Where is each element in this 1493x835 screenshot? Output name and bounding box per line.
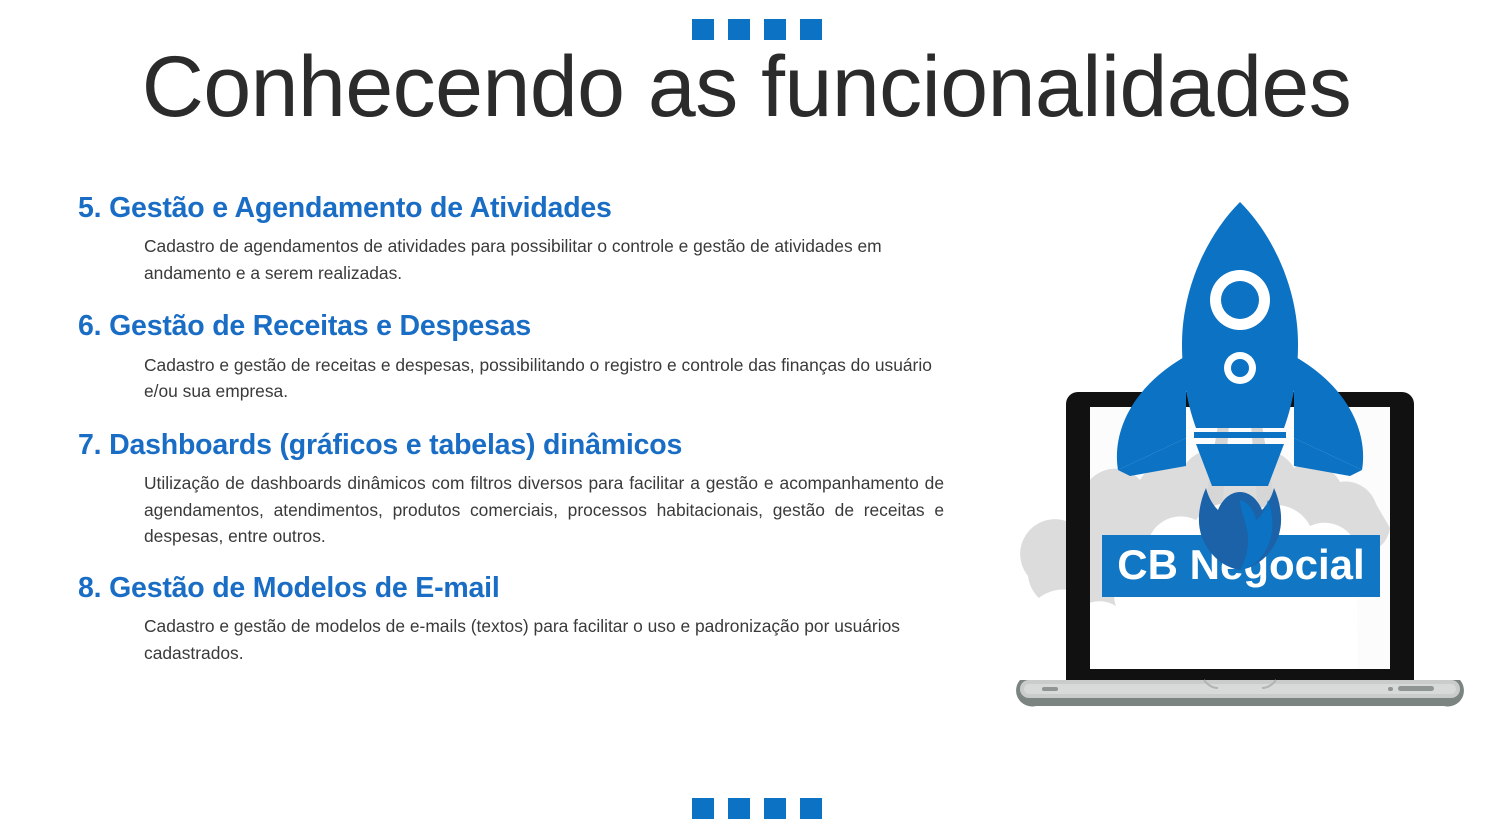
decorative-square — [728, 19, 750, 40]
feature-item-5: 5. Gestão e Agendamento de Atividades Ca… — [78, 190, 958, 286]
feature-heading-6: 6. Gestão de Receitas e Despesas — [78, 308, 958, 344]
feature-body-8: Cadastro e gestão de modelos de e-mails … — [144, 613, 944, 666]
feature-body-5: Cadastro de agendamentos de atividades p… — [144, 233, 944, 286]
feature-item-6: 6. Gestão de Receitas e Despesas Cadastr… — [78, 308, 958, 404]
feature-heading-8: 8. Gestão de Modelos de E-mail — [78, 570, 958, 606]
decorative-square — [800, 19, 822, 40]
top-decorative-squares — [692, 19, 822, 40]
feature-item-8: 8. Gestão de Modelos de E-mail Cadastro … — [78, 570, 958, 666]
decorative-square — [800, 798, 822, 819]
feature-list: 5. Gestão e Agendamento de Atividades Ca… — [78, 190, 958, 666]
presentation-slide: Conhecendo as funcionalidades 5. Gestão … — [0, 0, 1493, 835]
feature-item-7: 7. Dashboards (gráficos e tabelas) dinâm… — [78, 427, 958, 550]
feature-body-6: Cadastro e gestão de receitas e despesas… — [144, 352, 944, 405]
feature-heading-5: 5. Gestão e Agendamento de Atividades — [78, 190, 958, 226]
decorative-square — [764, 798, 786, 819]
laptop-base-icon — [1016, 680, 1464, 706]
rocket-laptop-illustration: CB Negocial — [990, 180, 1490, 740]
feature-body-7: Utilização de dashboards dinâmicos com f… — [144, 470, 944, 549]
bottom-decorative-squares — [692, 798, 822, 819]
page-title: Conhecendo as funcionalidades — [0, 44, 1493, 132]
decorative-square — [728, 798, 750, 819]
decorative-square — [764, 19, 786, 40]
decorative-square — [692, 19, 714, 40]
feature-heading-7: 7. Dashboards (gráficos e tabelas) dinâm… — [78, 427, 958, 463]
rocket-laptop-svg: CB Negocial — [990, 180, 1490, 740]
decorative-square — [692, 798, 714, 819]
